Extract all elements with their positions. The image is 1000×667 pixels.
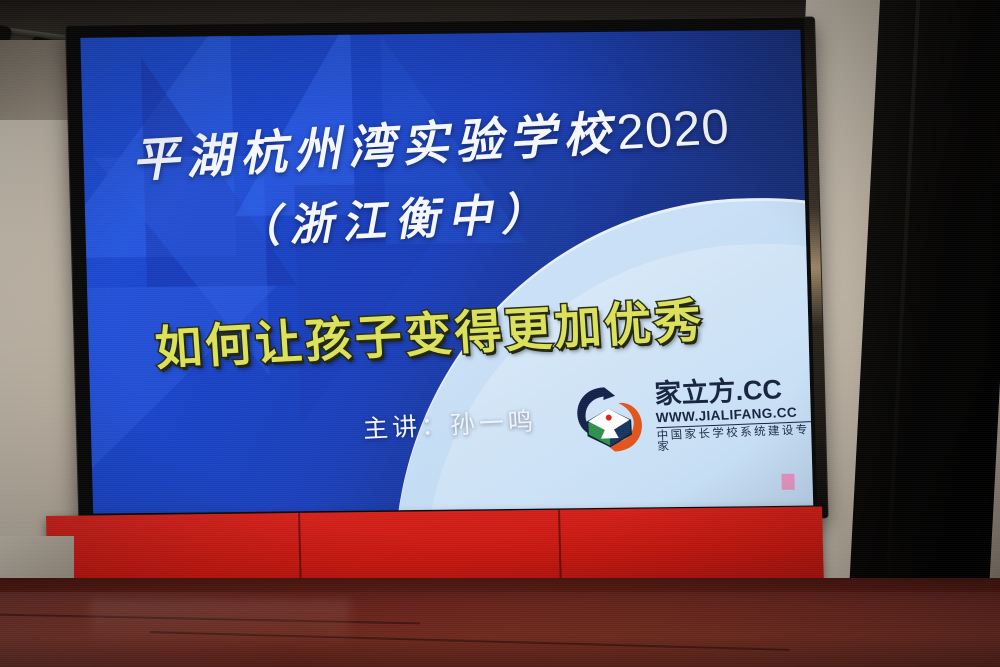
presentation-slide: 平湖杭州湾实验学校2020 （浙江衡中） 如何让孩子变得更加优秀 主讲：孙一鸣 (80, 30, 813, 514)
jialifang-logo-icon (569, 381, 649, 458)
logo-text-block: 家立方.CC WWW.JIALIFANG.CC 中国家长学校系统建设专家 (654, 375, 813, 454)
brand-logo-lockup: 家立方.CC WWW.JIALIFANG.CC 中国家长学校系统建设专家 (569, 374, 813, 457)
logo-brand-name: 家立方.CC (654, 375, 810, 408)
auditorium-photo: 平湖杭州湾实验学校2020 （浙江衡中） 如何让孩子变得更加优秀 主讲：孙一鸣 (0, 0, 1000, 667)
slide-title-year: 2020 (615, 100, 732, 160)
led-screen: 平湖杭州湾实验学校2020 （浙江衡中） 如何让孩子变得更加优秀 主讲：孙一鸣 (66, 18, 828, 526)
dead-pixel-artifact (781, 474, 794, 490)
floor-light-reflection (90, 600, 350, 650)
